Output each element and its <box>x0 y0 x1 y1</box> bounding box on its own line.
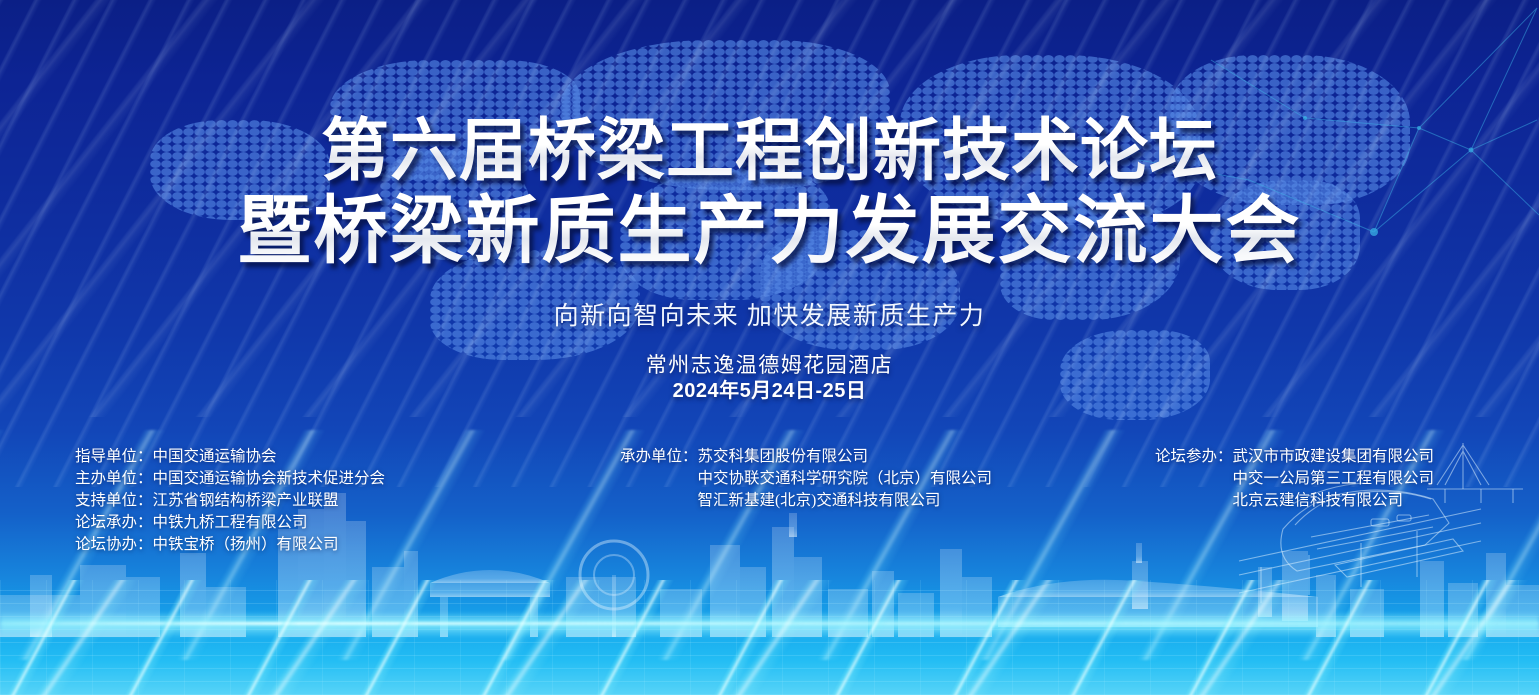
organizer-row: 论坛参办： 中交一公局第三工程有限公司 <box>1155 468 1434 490</box>
organizer-row: 承办单位： 智汇新基建(北京)交通科技有限公司 <box>620 490 992 512</box>
title-line-1: 第六届桥梁工程创新技术论坛 <box>0 112 1539 190</box>
title-line-2: 暨桥梁新质生产力发展交流大会 <box>0 190 1539 274</box>
organizer-label: 支持单位： <box>75 490 153 512</box>
organizer-value: 武汉市市政建设集团有限公司 <box>1233 446 1435 468</box>
organizer-value: 中铁宝桥（扬州）有限公司 <box>153 534 339 556</box>
organizer-row: 承办单位： 中交协联交通科学研究院（北京）有限公司 <box>620 468 992 490</box>
organizer-label: 论坛参办： <box>1155 446 1233 468</box>
organizer-value: 北京云建信科技有限公司 <box>1233 490 1404 512</box>
organizer-row: 论坛承办： 中铁九桥工程有限公司 <box>75 512 385 534</box>
organizer-value: 苏交科集团股份有限公司 <box>698 446 869 468</box>
conference-banner: 第六届桥梁工程创新技术论坛 暨桥梁新质生产力发展交流大会 向新向智向未来 加快发… <box>0 0 1539 695</box>
organizer-row: 论坛参办： 北京云建信科技有限公司 <box>1155 490 1434 512</box>
organizer-row: 指导单位： 中国交通运输协会 <box>75 446 385 468</box>
organizers-right-column: 论坛参办： 武汉市市政建设集团有限公司 论坛参办： 中交一公局第三工程有限公司 … <box>1155 446 1434 512</box>
organizer-value: 中国交通运输协会新技术促进分会 <box>153 468 386 490</box>
organizer-value: 中国交通运输协会 <box>153 446 277 468</box>
organizers-left-column: 指导单位： 中国交通运输协会 主办单位： 中国交通运输协会新技术促进分会 支持单… <box>75 446 385 556</box>
organizer-row: 论坛参办： 武汉市市政建设集团有限公司 <box>1155 446 1434 468</box>
organizer-value: 中交一公局第三工程有限公司 <box>1233 468 1435 490</box>
organizer-row: 主办单位： 中国交通运输协会新技术促进分会 <box>75 468 385 490</box>
organizer-value: 中交协联交通科学研究院（北京）有限公司 <box>698 468 993 490</box>
venue-block: 常州志逸温德姆花园酒店 2024年5月24日-25日 <box>0 352 1539 404</box>
organizer-label: 主办单位： <box>75 468 153 490</box>
organizer-label: 论坛协办： <box>75 534 153 556</box>
organizer-row: 支持单位： 江苏省钢结构桥梁产业联盟 <box>75 490 385 512</box>
venue-place: 常州志逸温德姆花园酒店 <box>0 352 1539 378</box>
banner-title: 第六届桥梁工程创新技术论坛 暨桥梁新质生产力发展交流大会 <box>0 112 1539 274</box>
organizer-value: 江苏省钢结构桥梁产业联盟 <box>153 490 339 512</box>
organizer-value: 智汇新基建(北京)交通科技有限公司 <box>698 490 941 512</box>
organizer-row: 承办单位： 苏交科集团股份有限公司 <box>620 446 992 468</box>
venue-date: 2024年5月24日-25日 <box>0 378 1539 404</box>
banner-slogan: 向新向智向未来 加快发展新质生产力 <box>0 296 1539 332</box>
organizer-label: 论坛承办： <box>75 512 153 534</box>
organizer-label: 承办单位： <box>620 446 698 468</box>
organizer-row: 论坛协办： 中铁宝桥（扬州）有限公司 <box>75 534 385 556</box>
organizers-middle-column: 承办单位： 苏交科集团股份有限公司 承办单位： 中交协联交通科学研究院（北京）有… <box>620 446 992 512</box>
organizer-value: 中铁九桥工程有限公司 <box>153 512 308 534</box>
organizer-label: 指导单位： <box>75 446 153 468</box>
